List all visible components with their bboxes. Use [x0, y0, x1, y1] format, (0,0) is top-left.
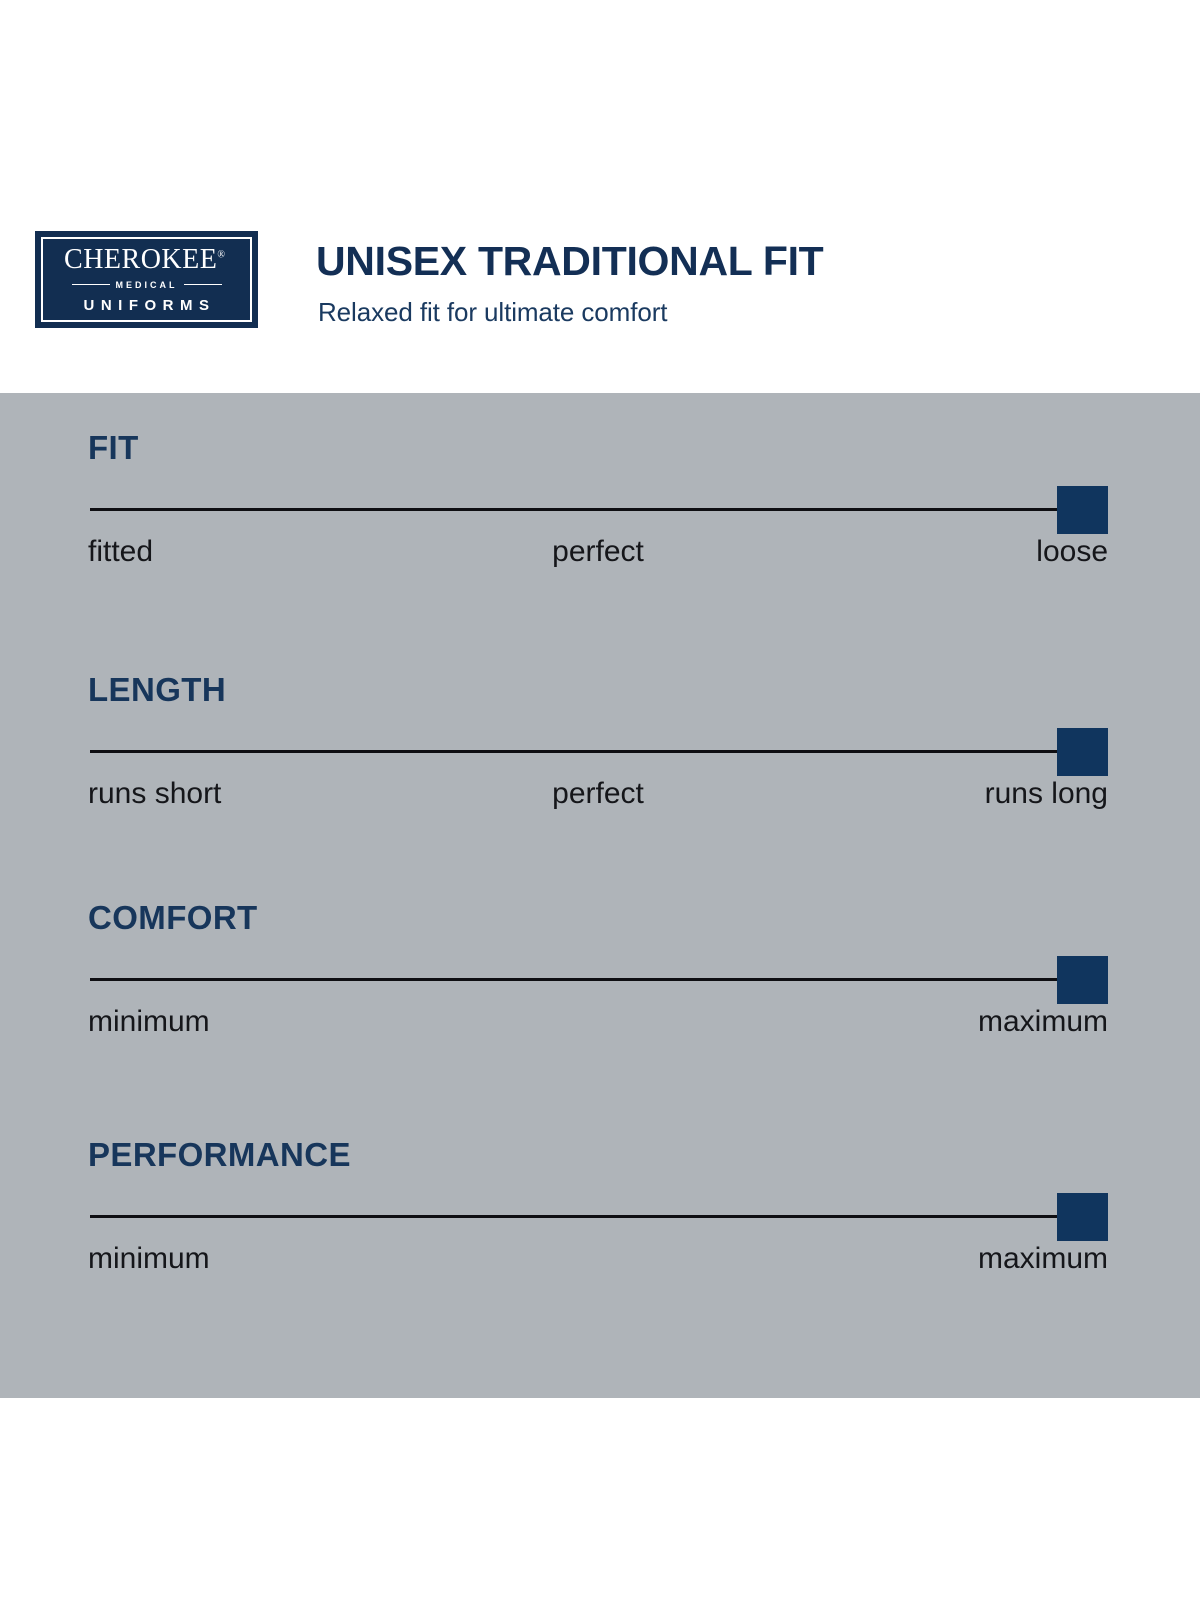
scale-row-performance: PERFORMANCEminimummaximum — [88, 1138, 1108, 1284]
scale-label-row: fittedperfectloose — [88, 537, 1108, 577]
scale-label: runs short — [88, 779, 221, 809]
scale-slider-track[interactable] — [88, 508, 1108, 511]
scale-heading: PERFORMANCE — [88, 1138, 1108, 1171]
logo-medical-text: MEDICAL — [116, 280, 178, 290]
header-band: CHEROKEE® MEDICAL UNIFORMS UNISEX TRADIT… — [0, 0, 1200, 393]
scale-slider-track[interactable] — [88, 978, 1108, 981]
scale-row-fit: FITfittedperfectloose — [88, 431, 1108, 577]
scale-slider-track[interactable] — [88, 750, 1108, 753]
scale-track-fill — [90, 508, 1059, 511]
scale-track-fill — [90, 1215, 1059, 1218]
logo-uniforms-text: UNIFORMS — [78, 297, 216, 314]
fit-scales-panel: FITfittedperfectlooseLENGTHruns shortper… — [0, 393, 1200, 1398]
scale-label-row: runs shortperfectruns long — [88, 779, 1108, 819]
scale-label-row: minimummaximum — [88, 1007, 1108, 1047]
scale-heading: LENGTH — [88, 673, 1108, 706]
cherokee-medical-uniforms-logo: CHEROKEE® MEDICAL UNIFORMS — [35, 231, 258, 328]
scale-track-fill — [90, 978, 1059, 981]
scale-label: perfect — [552, 779, 644, 809]
scale-row-comfort: COMFORTminimummaximum — [88, 901, 1108, 1047]
scale-label: runs long — [985, 779, 1108, 809]
scale-heading: COMFORT — [88, 901, 1108, 934]
logo-wordmark-text: CHEROKEE — [64, 244, 217, 275]
scale-label: maximum — [978, 1007, 1108, 1037]
scale-label: fitted — [88, 537, 153, 567]
scale-marker-handle[interactable] — [1057, 728, 1108, 776]
scale-label-row: minimummaximum — [88, 1244, 1108, 1284]
scale-label: minimum — [88, 1007, 210, 1037]
logo-medical-row: MEDICAL — [72, 280, 222, 290]
scale-label: loose — [1036, 537, 1108, 567]
logo-rule-left-icon — [72, 284, 110, 286]
scale-row-length: LENGTHruns shortperfectruns long — [88, 673, 1108, 819]
scale-label: minimum — [88, 1244, 210, 1274]
logo-rule-right-icon — [184, 284, 222, 286]
logo-wordmark: CHEROKEE® — [64, 246, 229, 274]
registered-trademark-icon: ® — [217, 249, 225, 260]
scale-track-fill — [90, 750, 1059, 753]
scale-marker-handle[interactable] — [1057, 1193, 1108, 1241]
scale-heading: FIT — [88, 431, 1108, 464]
scale-label: maximum — [978, 1244, 1108, 1274]
logo-inner-frame: CHEROKEE® MEDICAL UNIFORMS — [41, 237, 252, 322]
scale-marker-handle[interactable] — [1057, 956, 1108, 1004]
scale-marker-handle[interactable] — [1057, 486, 1108, 534]
page-title: UNISEX TRADITIONAL FIT — [316, 238, 823, 285]
scale-label: perfect — [552, 537, 644, 567]
page-subtitle: Relaxed fit for ultimate comfort — [318, 297, 667, 328]
scale-slider-track[interactable] — [88, 1215, 1108, 1218]
